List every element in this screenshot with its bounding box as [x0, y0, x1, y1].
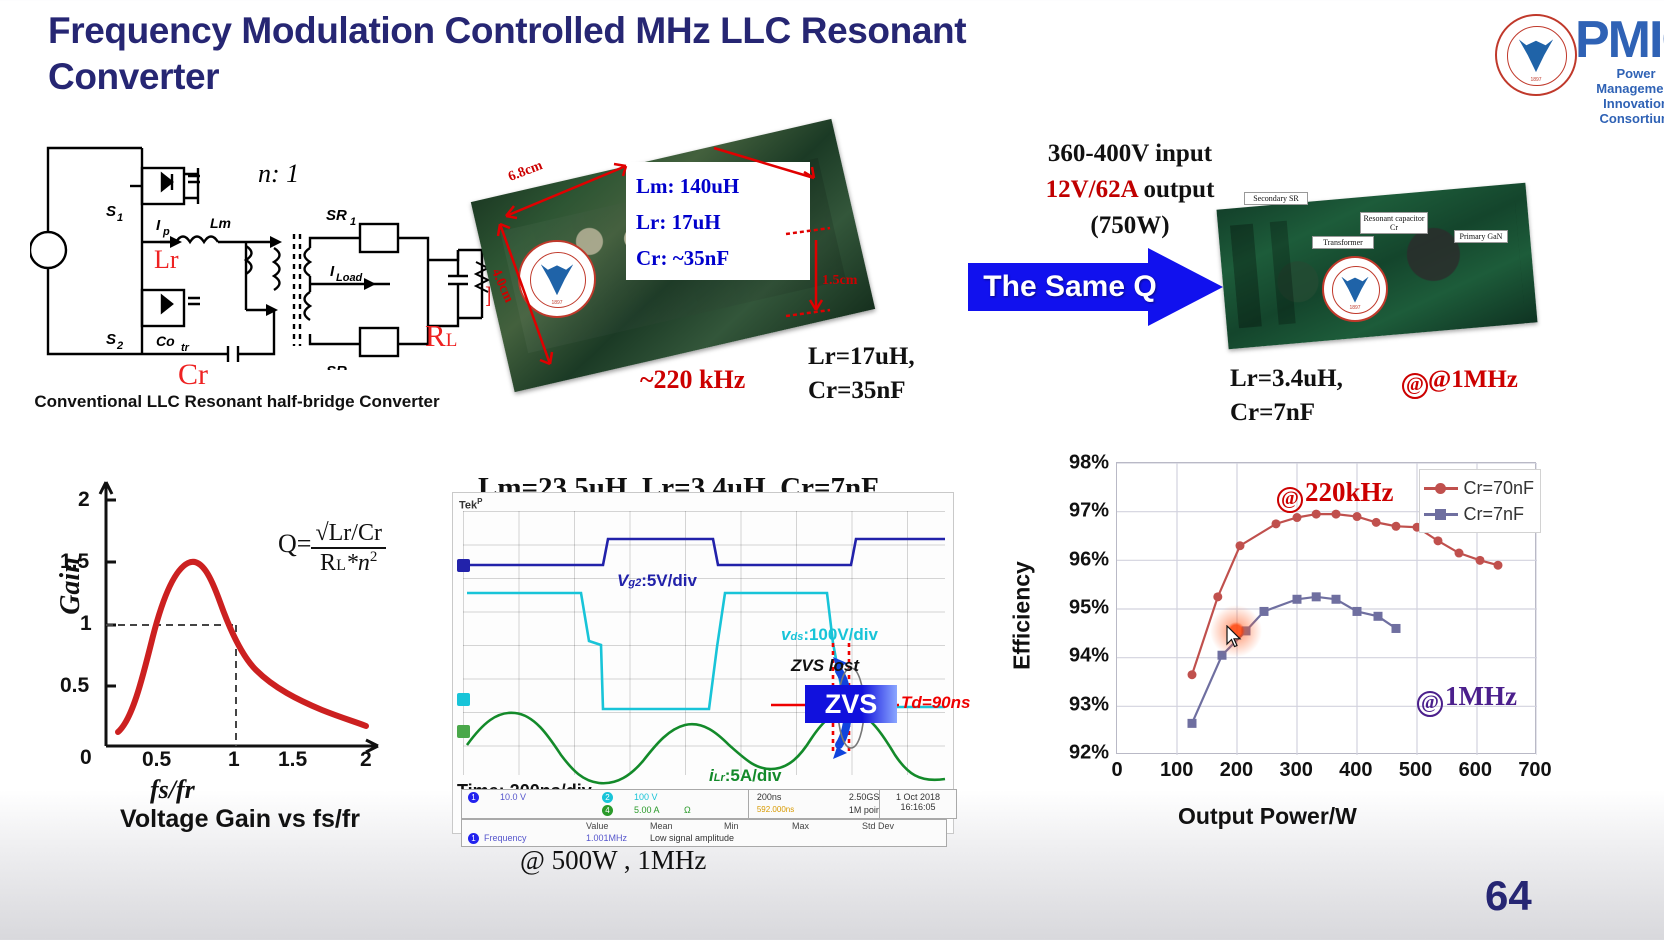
params-1mhz-cr: Cr=7nF: [1230, 396, 1343, 430]
legend-marker-square-icon: [1424, 513, 1458, 516]
spec-lr: Lr: 17uH: [636, 204, 800, 240]
measure-row-value: 1.001MHz: [586, 833, 627, 843]
svg-text:1: 1: [350, 216, 356, 228]
svg-text:p: p: [162, 226, 170, 238]
annotation-1mhz: @1MHz: [1417, 681, 1517, 717]
pcb-spec-box: Lm: 140uH Lr: 17uH Cr: ~35nF: [626, 162, 810, 280]
zju-seal-overlay-icon: 1897: [518, 240, 596, 318]
svg-text:n: 1: n: 1: [258, 159, 299, 188]
gain-xtick-1_5: 1.5: [278, 748, 307, 772]
ch4-scale: 5.00 A: [634, 805, 660, 815]
q-den-sup: 2: [370, 549, 378, 565]
q-den-rest: *n: [346, 550, 370, 576]
page-title: Frequency Modulation Controlled MHz LLC …: [48, 8, 1108, 100]
legend-label-cr70nf: Cr=70nF: [1463, 475, 1534, 501]
efficiency-legend: Cr=70nF Cr=7nF: [1419, 469, 1541, 533]
same-q-arrow: The Same Q: [968, 248, 1223, 326]
trace-label-ilr: iLr:5A/div: [709, 766, 781, 786]
oscilloscope-screenshot: TekP Vg2:5V/div vds:100V/div ZVS lost Td…: [452, 492, 954, 834]
svg-text:I: I: [330, 263, 335, 280]
efficiency-ytick: 93%: [1069, 693, 1109, 716]
ch2-dot-icon: 2: [602, 792, 613, 803]
at-symbol-220: @: [1277, 487, 1303, 513]
q-formula-denominator: RL*n2: [311, 549, 386, 577]
measure-ch-icon: 1: [468, 833, 479, 844]
measure-row-note: Low signal amplitude: [650, 833, 734, 843]
svg-text:Load: Load: [336, 272, 363, 284]
gain-xtick-0_5: 0.5: [142, 748, 171, 772]
svg-text:Lr: Lr: [154, 245, 179, 274]
pmic-tagline-line1: Power Management: [1575, 66, 1664, 96]
efficiency-ytick: 98%: [1069, 452, 1109, 475]
frequency-220khz-label: ~220 kHz: [640, 365, 745, 395]
svg-text:SR: SR: [326, 363, 347, 370]
ch4-dot-icon: 4: [602, 805, 613, 816]
circuit-label-rl: RL: [425, 318, 457, 354]
gain-xtick-2: 2: [360, 748, 372, 772]
scope-date: 1 Oct 2018: [880, 792, 956, 802]
efficiency-xtick: 600: [1459, 759, 1492, 782]
spec-output-word: output: [1137, 176, 1214, 203]
gain-ytick-1_5: 1.5: [60, 550, 89, 574]
q-formula-numerator: √Lr/Cr: [311, 520, 386, 549]
scope-measure-bar: 1 Frequency Value Mean Min Max Std Dev 1…: [461, 819, 947, 847]
params-1mhz: Lr=3.4uH, Cr=7nF: [1230, 362, 1343, 430]
legend-label-cr7nf: Cr=7nF: [1463, 501, 1524, 527]
zvs-badge: ZVS: [805, 685, 897, 723]
efficiency-xtick: 0: [1111, 759, 1122, 782]
measure-header-min: Min: [724, 821, 739, 831]
gain-ytick-0_5: 0.5: [60, 674, 89, 698]
mouse-cursor-icon: [1226, 625, 1242, 649]
dim-thickness-label: 1.5cm: [822, 273, 857, 289]
efficiency-plot-area: @220kHz @1MHz Cr=70nF Cr=7nF 92%93%94%95…: [1116, 462, 1536, 754]
svg-text:Co: Co: [156, 333, 175, 349]
gain-ytick-1: 1: [80, 612, 92, 636]
params-220khz-cr: Cr=35nF: [808, 374, 915, 408]
efficiency-ylabel: Efficiency: [1009, 561, 1036, 670]
efficiency-ytick: 96%: [1069, 548, 1109, 571]
efficiency-xtick: 400: [1339, 759, 1372, 782]
circuit-label-cr: Cr: [178, 358, 208, 392]
ch1-scale: 10.0 V: [500, 792, 526, 802]
trace-label-vds: vds:100V/div: [781, 625, 878, 645]
gain-chart: Gain 2 1.5 1 0.5 0 0.5 1 1.5 2: [60, 470, 460, 760]
measure-row-label: Frequency: [484, 833, 527, 843]
q-formula-lhs: Q=: [278, 529, 311, 558]
svg-text:Lm: Lm: [210, 215, 231, 231]
pcb-photo-1mhz: Secondary SR Resonant capacitor Cr Trans…: [1222, 188, 1542, 348]
params-1mhz-lr: Lr=3.4uH,: [1230, 362, 1343, 396]
measure-header-stddev: Std Dev: [862, 821, 894, 831]
scope-datetime: 1 Oct 2018 16:16:05: [879, 789, 957, 819]
efficiency-xtick: 200: [1220, 759, 1253, 782]
zju-seal-overlay-icon-2: 1897: [1322, 256, 1388, 322]
scope-timebase-value: 200ns: [757, 792, 782, 802]
gain-xtick-1: 1: [228, 748, 240, 772]
llc-circuit-diagram: S1 S2 Ip Lm SR1 SR2 ILoad Cotr Lr Cr R n…: [30, 130, 490, 370]
params-220khz: Lr=17uH, Cr=35nF: [808, 340, 915, 408]
svg-text:SR: SR: [326, 207, 347, 224]
scope-time: 16:16:05: [880, 802, 956, 812]
arrow-label: The Same Q: [980, 270, 1160, 304]
legend-item-cr70nf: Cr=70nF: [1424, 475, 1534, 501]
spec-output-value: 12V/62A: [1046, 176, 1138, 203]
scope-caption: @ 500W , 1MHz: [520, 845, 706, 876]
at-1mhz-label: @@1MHz: [1402, 366, 1518, 399]
svg-text:S: S: [106, 203, 116, 220]
gain-ytick-2: 2: [78, 488, 90, 512]
svg-text:S: S: [106, 331, 116, 348]
callout-transformer: Transformer: [1312, 236, 1374, 249]
efficiency-ytick: 94%: [1069, 645, 1109, 668]
efficiency-chart: Efficiency @220kHz @1MHz Cr=70nF Cr=7nF …: [1028, 452, 1558, 792]
efficiency-ytick: 97%: [1069, 500, 1109, 523]
efficiency-xtick: 700: [1518, 759, 1551, 782]
params-220khz-lr: Lr=17uH,: [808, 340, 915, 374]
efficiency-xlabel: Output Power/W: [1178, 803, 1357, 830]
q-den-r: R: [320, 550, 336, 576]
seal-year: 1897: [1497, 77, 1575, 83]
callout-resonant-capacitor: Resonant capacitor Cr: [1360, 212, 1428, 234]
page-number: 64: [1485, 872, 1532, 920]
efficiency-ytick: 92%: [1069, 742, 1109, 765]
spec-cr: Cr: ~35nF: [636, 240, 800, 276]
ch1-dot-icon: 1: [468, 792, 479, 803]
efficiency-xtick: 500: [1399, 759, 1432, 782]
pmic-logo: PMIC Power Management Innovation Consort…: [1575, 14, 1664, 126]
pmic-tagline-line2: Innovation Consortium: [1575, 96, 1664, 126]
scope-trigger-position: 592.000ns: [757, 805, 794, 814]
dim-width-label: 6.8cm: [506, 158, 545, 186]
measure-header-max: Max: [792, 821, 809, 831]
measure-header-mean: Mean: [650, 821, 673, 831]
at-symbol-1m: @: [1417, 691, 1443, 717]
q-formula: Q= √Lr/Cr RL*n2: [278, 520, 458, 577]
q-den-sub: L: [336, 557, 346, 574]
td-label: Td=90ns: [901, 693, 970, 713]
measure-header-value: Value: [586, 821, 608, 831]
legend-marker-circle-icon: [1424, 487, 1458, 490]
efficiency-xtick: 300: [1279, 759, 1312, 782]
zhejiang-university-seal-icon: 1897: [1495, 14, 1577, 96]
efficiency-xtick: 100: [1160, 759, 1193, 782]
spec-input: 360-400V input: [995, 136, 1265, 172]
seal-year: 1897: [1324, 305, 1386, 311]
legend-item-cr7nf: Cr=7nF: [1424, 501, 1534, 527]
svg-text:Cr: Cr: [212, 369, 238, 370]
svg-text:2: 2: [116, 340, 123, 352]
svg-text:tr: tr: [181, 342, 190, 354]
callout-secondary-sr: Secondary SR: [1244, 192, 1308, 205]
annotation-220khz: @220kHz: [1277, 477, 1394, 513]
efficiency-ytick: 95%: [1069, 597, 1109, 620]
spec-lm: Lm: 140uH: [636, 168, 800, 204]
gain-xlabel: fs/fr: [150, 775, 195, 805]
svg-text:1: 1: [117, 212, 123, 224]
seal-year: 1897: [520, 300, 594, 306]
scope-status-bar: 1 10.0 V 2 100 V 4 5.00 A Ω 200ns 592.00…: [461, 789, 947, 819]
gain-chart-caption: Voltage Gain vs fs/fr: [30, 805, 450, 834]
callout-primary-gan: Primary GaN: [1454, 230, 1508, 243]
ch4-unit: Ω: [684, 805, 691, 815]
circuit-caption: Conventional LLC Resonant half-bridge Co…: [22, 390, 452, 413]
trace-label-vg2: Vg2:5V/div: [617, 571, 697, 591]
gain-ytick-0: 0: [80, 746, 92, 770]
svg-text:I: I: [156, 217, 161, 234]
zvs-lost-label: ZVS lost: [791, 656, 859, 676]
ch2-scale: 100 V: [634, 792, 658, 802]
at-1mhz-text: @1MHz: [1404, 366, 1518, 393]
pmic-letters: PMIC: [1575, 14, 1664, 66]
